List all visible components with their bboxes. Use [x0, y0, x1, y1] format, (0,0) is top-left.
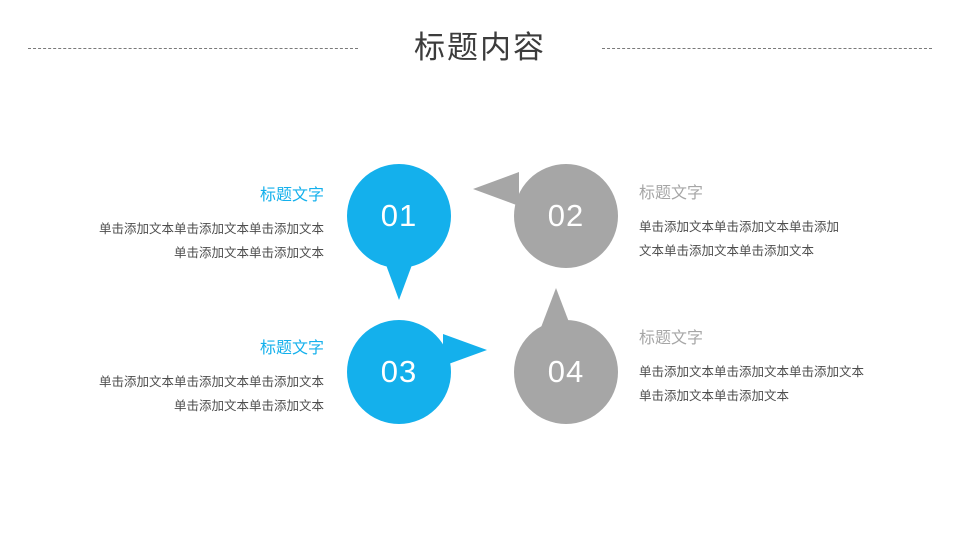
text-block-03-heading: 标题文字: [24, 338, 324, 360]
text-block-01: 标题文字 单击添加文本单击添加文本单击添加文本 单击添加文本单击添加文本: [24, 185, 324, 265]
text-block-04-heading: 标题文字: [639, 328, 939, 350]
text-block-02: 标题文字 单击添加文本单击添加文本单击添加 文本单击添加文本单击添加文本: [639, 183, 939, 263]
slide-header: 标题内容: [0, 24, 960, 80]
header-divider-right: [602, 48, 932, 49]
text-block-02-heading: 标题文字: [639, 183, 939, 205]
text-block-04-body: 单击添加文本单击添加文本单击添加文本 单击添加文本单击添加文本: [639, 360, 939, 408]
bubble-03[interactable]: 03: [347, 320, 451, 424]
text-block-03-body-line1: 单击添加文本单击添加文本单击添加文本: [24, 370, 324, 394]
text-block-03: 标题文字 单击添加文本单击添加文本单击添加文本 单击添加文本单击添加文本: [24, 338, 324, 418]
bubble-04-tail-icon: [540, 288, 572, 330]
text-block-02-body-line2: 文本单击添加文本单击添加文本: [639, 239, 939, 263]
text-block-01-body-line1: 单击添加文本单击添加文本单击添加文本: [24, 217, 324, 241]
text-block-02-body: 单击添加文本单击添加文本单击添加 文本单击添加文本单击添加文本: [639, 215, 939, 263]
bubble-03-tail-icon: [443, 334, 487, 366]
bubble-02-number: 02: [548, 198, 584, 234]
text-block-04-body-line2: 单击添加文本单击添加文本: [639, 384, 939, 408]
bubble-04[interactable]: 04: [514, 320, 618, 424]
text-block-04: 标题文字 单击添加文本单击添加文本单击添加文本 单击添加文本单击添加文本: [639, 328, 939, 408]
bubble-01-tail-icon: [382, 254, 416, 300]
text-block-01-body: 单击添加文本单击添加文本单击添加文本 单击添加文本单击添加文本: [24, 217, 324, 265]
text-block-02-body-line1: 单击添加文本单击添加文本单击添加: [639, 215, 939, 239]
bubble-02-tail-icon: [473, 172, 519, 206]
text-block-04-body-line1: 单击添加文本单击添加文本单击添加文本: [639, 360, 939, 384]
slide-canvas: 标题内容 01 标题文字 单击添加文本单击添加文本单击添加文本 单击添加文本单击…: [0, 0, 960, 540]
text-block-03-body: 单击添加文本单击添加文本单击添加文本 单击添加文本单击添加文本: [24, 370, 324, 418]
bubble-03-number: 03: [381, 354, 417, 390]
text-block-01-body-line2: 单击添加文本单击添加文本: [24, 241, 324, 265]
bubble-01-number: 01: [381, 198, 417, 234]
text-block-03-body-line2: 单击添加文本单击添加文本: [24, 394, 324, 418]
text-block-01-heading: 标题文字: [24, 185, 324, 207]
bubble-02[interactable]: 02: [514, 164, 618, 268]
bubble-04-number: 04: [548, 354, 584, 390]
bubble-01[interactable]: 01: [347, 164, 451, 268]
